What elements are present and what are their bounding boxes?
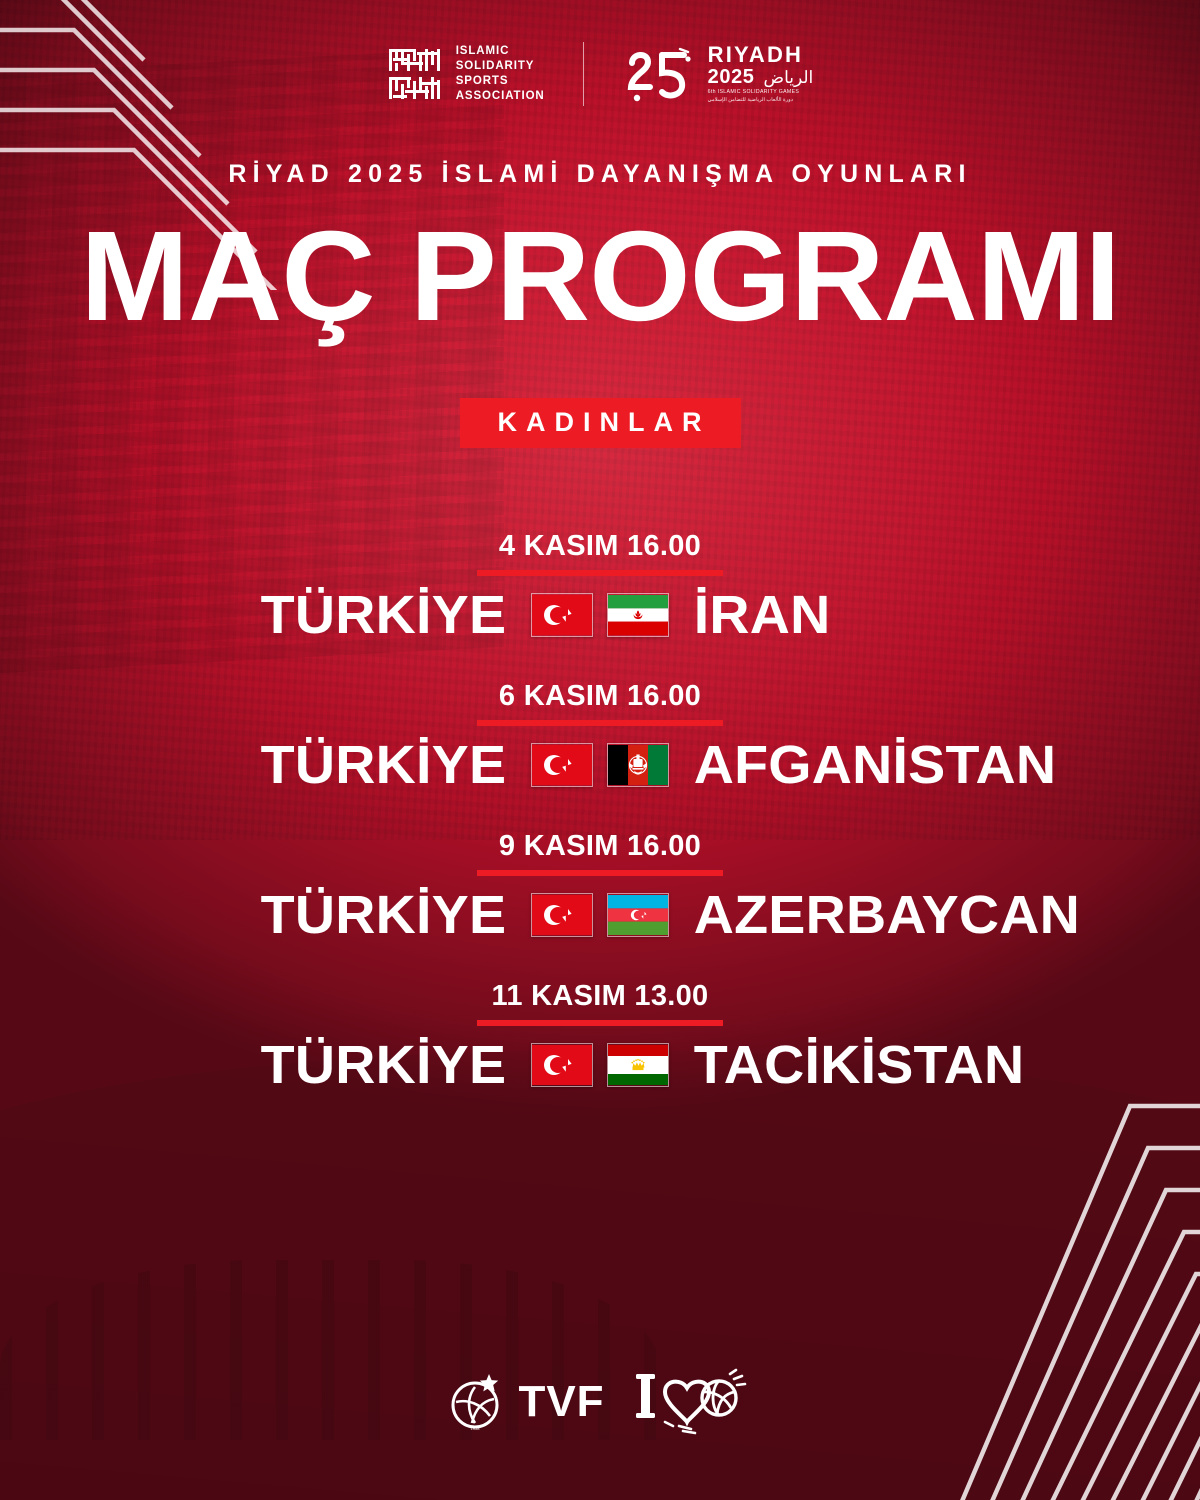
tajikistan-flag <box>607 1043 669 1087</box>
page-title: MAÇ PROGRAMI <box>0 212 1200 343</box>
match-flags <box>501 593 699 637</box>
logo-divider <box>583 42 584 106</box>
match-teams: TÜRKİYE <box>0 884 1200 946</box>
riyadh-subtitle-ar: دورة الألعاب الرياضية للتضامن الإسلامي <box>708 97 814 105</box>
home-team-name: TÜRKİYE <box>146 584 507 646</box>
issa-line-1: ISLAMIC <box>456 44 545 59</box>
azerbaijan-flag <box>607 893 669 937</box>
issa-line-4: ASSOCIATION <box>456 89 545 104</box>
event-kicker-title: RİYAD 2025 İSLAMİ DAYANIŞMA OYUNLARI <box>0 160 1200 189</box>
category-badge: KADINLAR <box>460 398 741 448</box>
match-date-underline <box>477 1020 723 1026</box>
turkey-flag <box>531 743 593 787</box>
match-row: 11 KASIM 13.00 TÜRKİYE <box>0 980 1200 1096</box>
riyadh-year-label: 2025 <box>708 66 755 89</box>
home-team-name: TÜRKİYE <box>146 884 507 946</box>
match-flags <box>501 743 699 787</box>
issa-logo-text: ISLAMIC SOLIDARITY SPORTS ASSOCIATION <box>456 44 545 105</box>
match-date: 9 KASIM 16.00 <box>499 830 701 863</box>
issa-logo: ISLAMIC SOLIDARITY SPORTS ASSOCIATION <box>387 44 545 105</box>
riyadh-subtitle-en: 6th ISLAMIC SOLIDARITY GAMES <box>708 89 814 97</box>
header-logos: ISLAMIC SOLIDARITY SPORTS ASSOCIATION RI… <box>0 42 1200 106</box>
away-team-name: AFGANİSTAN <box>694 734 1055 796</box>
match-teams: TÜRKİYE <box>0 584 1200 646</box>
riyadh-logo-text: RIYADH 2025 الرياض 6th ISLAMIC SOLIDARIT… <box>708 44 814 105</box>
riyadh-city-label: RIYADH <box>708 44 814 66</box>
issa-line-2: SOLIDARITY <box>456 59 545 74</box>
tvf-logo: 1958 TVF <box>445 1371 604 1433</box>
away-team-name: TACİKİSTAN <box>694 1034 1055 1096</box>
riyadh-2025-numeral-mark <box>622 43 696 105</box>
match-flags <box>501 893 699 937</box>
i-love-volleyball-logo <box>635 1366 755 1438</box>
match-teams: TÜRKİYE <box>0 734 1200 796</box>
tvf-volleyball-star-logo: 1958 <box>445 1371 507 1433</box>
iran-flag <box>607 593 669 637</box>
match-row: 9 KASIM 16.00 TÜRKİYE <box>0 830 1200 946</box>
match-row: 4 KASIM 16.00 TÜRKİYE <box>0 530 1200 646</box>
match-list: 4 KASIM 16.00 TÜRKİYE <box>0 530 1200 1096</box>
riyadh-city-arabic-label: الرياض <box>764 68 814 88</box>
category-badge-wrap: KADINLAR <box>0 398 1200 448</box>
match-date: 6 KASIM 16.00 <box>499 680 701 713</box>
match-schedule-poster: ISLAMIC SOLIDARITY SPORTS ASSOCIATION RI… <box>0 0 1200 1500</box>
footer-logos: 1958 TVF <box>0 1366 1200 1438</box>
turkey-flag <box>531 893 593 937</box>
svg-text:1958: 1958 <box>471 1426 481 1431</box>
match-row: 6 KASIM 16.00 TÜRKİYE <box>0 680 1200 796</box>
turkey-flag <box>531 593 593 637</box>
match-flags <box>501 1043 699 1087</box>
issa-line-3: SPORTS <box>456 74 545 89</box>
turkey-flag <box>531 1043 593 1087</box>
match-date: 11 KASIM 13.00 <box>492 980 709 1013</box>
match-date-underline <box>477 870 723 876</box>
match-date-underline <box>477 720 723 726</box>
away-team-name: İRAN <box>694 584 1055 646</box>
tvf-label: TVF <box>518 1377 604 1427</box>
riyadh-2025-logo: RIYADH 2025 الرياض 6th ISLAMIC SOLIDARIT… <box>622 43 814 105</box>
away-team-name: AZERBAYCAN <box>694 884 1055 946</box>
match-date: 4 KASIM 16.00 <box>499 530 701 563</box>
islamic-solidarity-sports-association-kufic-mark <box>387 46 443 102</box>
home-team-name: TÜRKİYE <box>146 734 507 796</box>
match-teams: TÜRKİYE <box>0 1034 1200 1096</box>
home-team-name: TÜRKİYE <box>146 1034 507 1096</box>
match-date-underline <box>477 570 723 576</box>
afghanistan-flag <box>607 743 669 787</box>
